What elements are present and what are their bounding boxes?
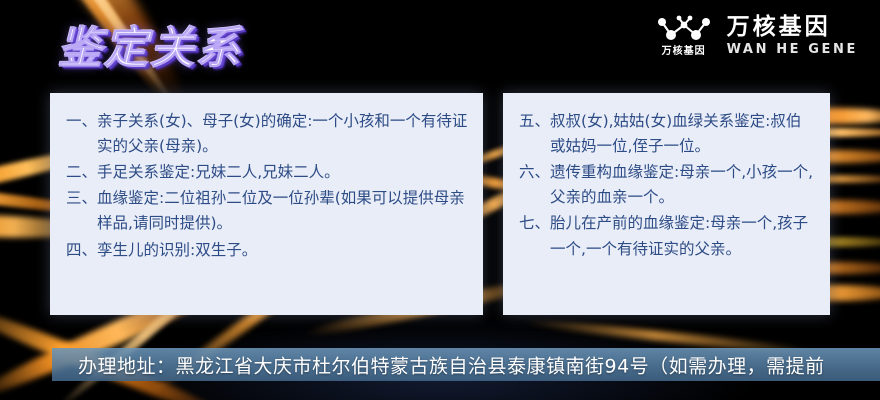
list-item-number: 二、: [66, 160, 97, 185]
list-item-number: 四、: [66, 238, 97, 263]
list-item: 二、 手足关系鉴定:兄妹二人,兄妹二人。: [66, 160, 469, 185]
page-title: 鉴定关系: [58, 12, 242, 76]
content-panel-right: 五、 叔叔(女),姑姑(女)血绿关系鉴定:叔伯或姑妈一位,侄子一位。 六、 遗传…: [503, 93, 830, 315]
ticker-text: 办理地址：黑龙江省大庆市杜尔伯特蒙古族自治县泰康镇南街94号（如需办理，需提前: [78, 351, 825, 378]
brand-name-cn: 万核基因: [727, 15, 858, 39]
brand-wordmark: 万核基因 WAN HE GENE: [727, 15, 858, 55]
content-panel-left: 一、 亲子关系(女)、母子(女)的确定:一个小孩和一个有待证实的父亲(母亲)。 …: [50, 93, 483, 315]
list-item-number: 五、: [519, 109, 550, 159]
list-item-text: 血缘鉴定:二位祖孙二位及一位孙辈(如果可以提供母亲样品,请同时提供)。: [97, 186, 469, 236]
list-item: 七、 胎儿在产前的血缘鉴定:母亲一个,孩子一个,一个有待证实的父亲。: [519, 211, 816, 261]
list-item: 五、 叔叔(女),姑姑(女)血绿关系鉴定:叔伯或姑妈一位,侄子一位。: [519, 109, 816, 159]
bottom-ticker-bar: 办理地址：黑龙江省大庆市杜尔伯特蒙古族自治县泰康镇南街94号（如需办理，需提前: [52, 348, 880, 381]
list-item-number: 一、: [66, 109, 97, 159]
list-item-text: 胎儿在产前的血缘鉴定:母亲一个,孩子一个,一个有待证实的父亲。: [550, 211, 816, 261]
list-item-text: 亲子关系(女)、母子(女)的确定:一个小孩和一个有待证实的父亲(母亲)。: [97, 109, 469, 159]
list-item-number: 七、: [519, 211, 550, 261]
list-item: 三、 血缘鉴定:二位祖孙二位及一位孙辈(如果可以提供母亲样品,请同时提供)。: [66, 186, 469, 236]
list-item: 一、 亲子关系(女)、母子(女)的确定:一个小孩和一个有待证实的父亲(母亲)。: [66, 109, 469, 159]
brand-mark-caption: 万核基因: [662, 47, 706, 57]
list-item: 四、 孪生儿的识别:双生子。: [66, 238, 469, 263]
list-item-number: 六、: [519, 160, 550, 210]
list-item-text: 孪生儿的识别:双生子。: [97, 238, 469, 263]
list-item-text: 手足关系鉴定:兄妹二人,兄妹二人。: [97, 160, 469, 185]
list-item: 六、 遗传重构血缘鉴定:母亲一个,小孩一个,父亲的血亲一个。: [519, 160, 816, 210]
brand-mark: 万核基因: [655, 14, 713, 57]
slide-header: 鉴定关系: [0, 0, 880, 88]
slide-canvas: 鉴定关系: [0, 0, 880, 400]
brand-logo: 万核基因 万核基因 WAN HE GENE: [655, 14, 858, 57]
brand-name-en: WAN HE GENE: [727, 43, 858, 56]
list-item-text: 叔叔(女),姑姑(女)血绿关系鉴定:叔伯或姑妈一位,侄子一位。: [550, 109, 816, 159]
molecule-network-icon: [655, 14, 713, 44]
list-item-number: 三、: [66, 186, 97, 236]
list-item-text: 遗传重构血缘鉴定:母亲一个,小孩一个,父亲的血亲一个。: [550, 160, 816, 210]
